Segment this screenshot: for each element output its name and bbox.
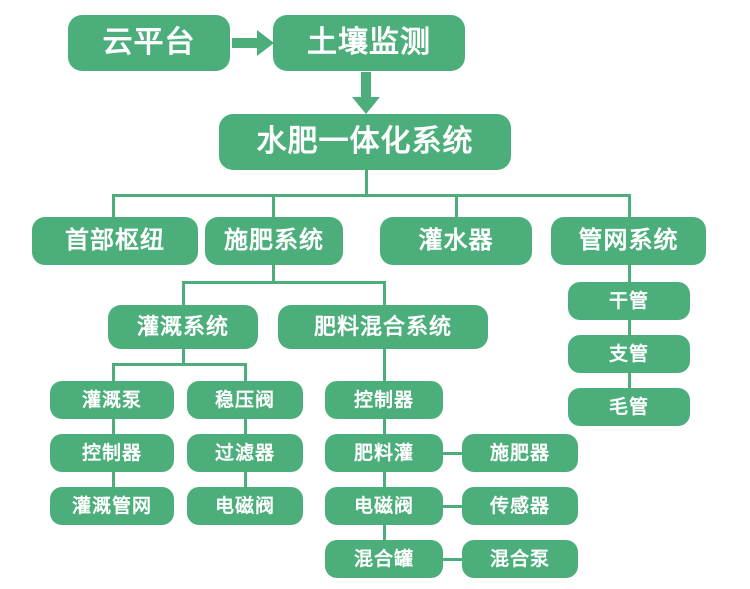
node-sensor[interactable]: 传感器 (462, 487, 578, 525)
node-pressure-regulating-valve[interactable]: 稳压阀 (187, 381, 303, 419)
connector-mixingtank-to-mixingpump (443, 558, 462, 561)
connector-tank-to-solenoid (383, 472, 386, 488)
connector-solenoid-to-sensor (443, 505, 462, 508)
node-pipe-network-system[interactable]: 管网系统 (551, 217, 706, 265)
node-irrigator[interactable]: 灌水器 (380, 217, 532, 265)
connector-root-stem (365, 170, 368, 196)
connector-drop-pressure-valve (244, 363, 247, 382)
node-capillary-pipe[interactable]: 毛管 (568, 388, 690, 426)
node-irrigation-pipe-network[interactable]: 灌溉管网 (50, 487, 174, 525)
node-fertilization-system[interactable]: 施肥系统 (205, 217, 343, 265)
node-mixing-pump[interactable]: 混合泵 (462, 540, 578, 578)
node-irrigation-controller[interactable]: 控制器 (50, 434, 174, 472)
connector-branch-to-capillary (628, 373, 631, 389)
node-irrigation-pump[interactable]: 灌溉泵 (50, 381, 174, 419)
node-fertilizer-tank[interactable]: 肥料灌 (325, 434, 443, 472)
connector-drop-irrigation-pump (112, 363, 115, 382)
connector-mixcontroller-to-tank (383, 419, 386, 435)
connector-pressure-valve-to-filter (244, 419, 247, 435)
connector-solenoid-to-mixingtank (383, 525, 386, 541)
connector-drop-irrigation-system (182, 281, 185, 305)
node-root-system[interactable]: 水肥一体化系统 (219, 114, 511, 170)
node-main-pipe[interactable]: 干管 (568, 282, 690, 320)
connector-irrigation-bar (112, 363, 246, 366)
connector-mixing-system-stem (383, 349, 386, 382)
arrow-right-icon (232, 30, 274, 56)
connector-drop-fertilizer-mixing (383, 281, 386, 305)
node-solenoid-valve-b[interactable]: 电磁阀 (325, 487, 443, 525)
node-fertilizer-applicator[interactable]: 施肥器 (462, 434, 578, 472)
system-architecture-diagram: 云平台 土壤监测 水肥一体化系统 首部枢纽 施肥系统 灌水器 管网系统 灌溉系统… (0, 0, 750, 589)
node-irrigation-system[interactable]: 灌溉系统 (108, 305, 258, 349)
node-solenoid-valve-a[interactable]: 电磁阀 (187, 487, 303, 525)
connector-drop-irrigator (455, 194, 458, 217)
connector-level2-bar (112, 194, 631, 197)
connector-drop-fertilization (272, 194, 275, 217)
node-fertilizer-mixing-system[interactable]: 肥料混合系统 (278, 305, 488, 349)
connector-controller-to-pipe-network (112, 472, 115, 488)
connector-main-to-branch (628, 320, 631, 336)
node-branch-pipe[interactable]: 支管 (568, 335, 690, 373)
node-mix-controller[interactable]: 控制器 (325, 381, 443, 419)
node-cloud-platform[interactable]: 云平台 (68, 15, 230, 71)
connector-drop-head-hub (112, 194, 115, 217)
connector-fertilization-bar (182, 281, 385, 284)
connector-irrigation-pump-to-controller (112, 419, 115, 435)
node-soil-monitoring[interactable]: 土壤监测 (273, 15, 465, 71)
connector-drop-pipe-network (628, 194, 631, 217)
node-filter[interactable]: 过滤器 (187, 434, 303, 472)
node-head-hub[interactable]: 首部枢纽 (32, 217, 198, 265)
connector-filter-to-solenoid (244, 472, 247, 488)
connector-pipe-network-stem (628, 265, 631, 283)
connector-tank-to-applicator (443, 452, 462, 455)
arrow-down-icon (352, 72, 380, 114)
node-mixing-tank[interactable]: 混合罐 (325, 540, 443, 578)
